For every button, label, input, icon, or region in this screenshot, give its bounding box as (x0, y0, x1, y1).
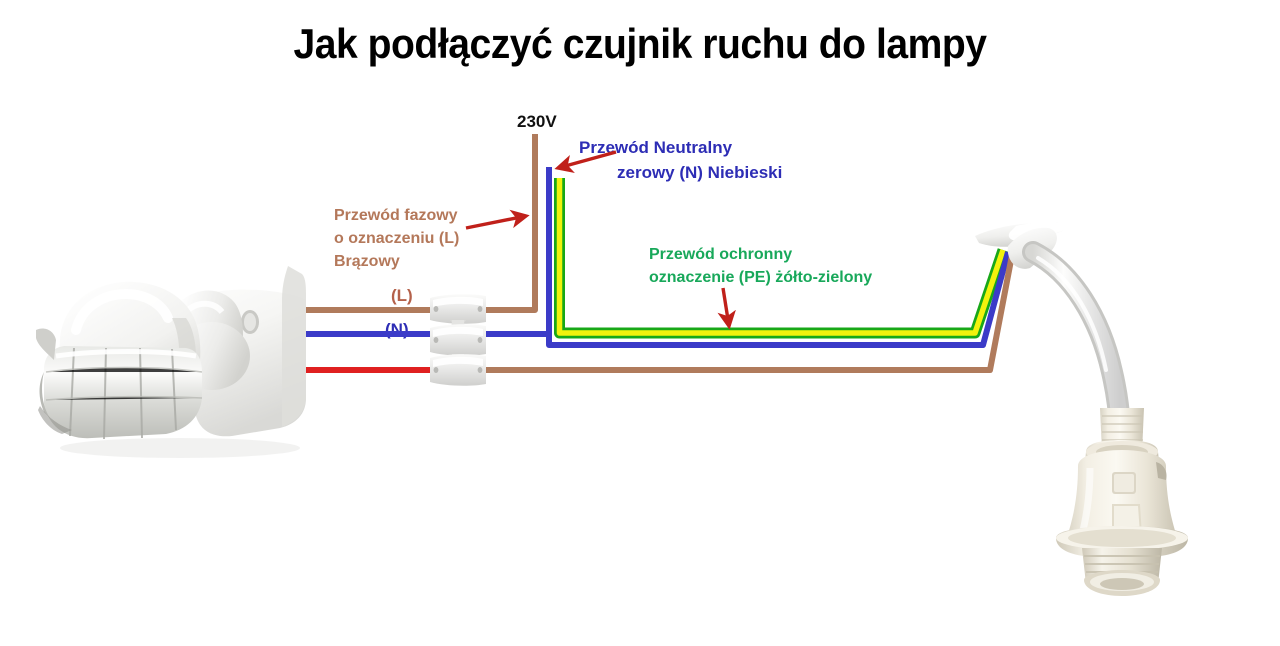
diagram-canvas: Jak podłączyć czujnik ruchu do lampy (0, 0, 1280, 646)
wire-connector-icon[interactable] (430, 294, 486, 385)
connector-layer (0, 0, 1280, 646)
